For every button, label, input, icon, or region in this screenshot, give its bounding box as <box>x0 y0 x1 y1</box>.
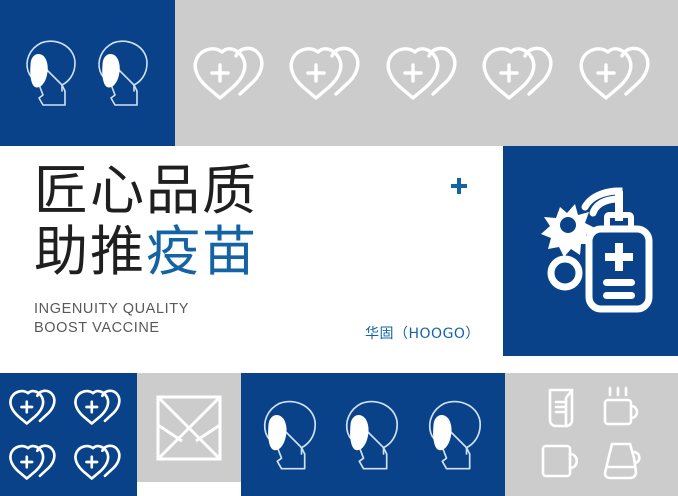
subtitle-line-1: INGENUITY QUALITY <box>34 300 189 319</box>
masked-face-icon <box>340 395 406 475</box>
bottom-placeholder-underline <box>137 482 241 496</box>
double-heart-plus-icon <box>479 44 567 102</box>
double-heart-plus-icon <box>576 44 664 102</box>
double-heart-plus-icon <box>383 44 471 102</box>
masked-face-icon <box>423 395 489 475</box>
brand-label: 华固（HOOGO） <box>365 323 480 343</box>
beaker-icon <box>544 387 578 429</box>
bottom-mask-icon-group <box>241 373 505 496</box>
top-mask-icon-group <box>0 0 175 146</box>
sanitizer-dispenser-icon <box>523 185 659 317</box>
headline-line-2-prefix: 助推 <box>34 220 146 283</box>
poster-canvas: 匠心品质 助推疫苗 INGENUITY QUALITY BOOST VACCIN… <box>0 0 678 496</box>
bottom-white-divider <box>0 356 678 373</box>
masked-face-icon <box>93 35 155 111</box>
bottom-heart-icon-group <box>0 373 137 496</box>
double-heart-plus-icon <box>72 387 130 427</box>
masked-face-icon <box>258 395 324 475</box>
steaming-cup-icon <box>601 386 643 430</box>
headline-line-2-accent: 疫苗 <box>146 220 258 283</box>
subtitle-line-2: BOOST VACCINE <box>34 319 189 338</box>
mug-icon <box>540 442 582 480</box>
broken-image-placeholder-icon <box>156 395 222 461</box>
double-heart-plus-icon <box>286 44 374 102</box>
medical-plus-icon <box>450 177 468 195</box>
subtitle: INGENUITY QUALITY BOOST VACCINE <box>34 300 189 338</box>
broken-image-placeholder-panel <box>137 373 241 482</box>
small-germ-icon <box>551 259 579 287</box>
bottom-vessel-icon-group <box>505 373 678 496</box>
double-heart-plus-icon <box>190 44 278 102</box>
kettle-icon <box>600 440 644 482</box>
masked-face-icon <box>21 35 83 111</box>
page-title: 匠心品质 助推疫苗 <box>34 160 258 282</box>
double-heart-plus-icon <box>7 442 65 482</box>
double-heart-plus-icon <box>72 442 130 482</box>
headline-line-2: 助推疫苗 <box>34 221 258 282</box>
headline-line-1: 匠心品质 <box>34 160 258 221</box>
double-heart-plus-icon <box>7 387 65 427</box>
right-product-panel <box>503 146 678 356</box>
top-heart-icon-group <box>175 0 678 146</box>
